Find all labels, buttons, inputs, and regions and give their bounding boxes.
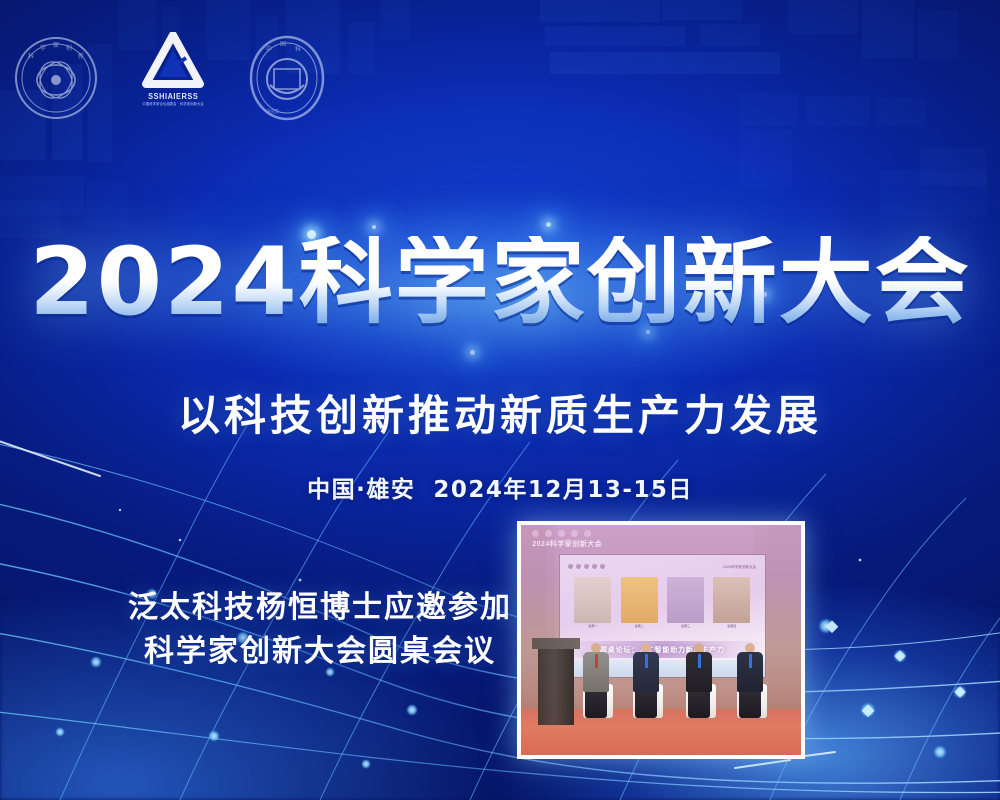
light-spark [470, 350, 475, 355]
panelist-card: 嘉宾二 [621, 577, 658, 638]
triangle-association-logo-icon: SSHIAIERSS 中国科学家论坛组委会 · 科学家创新大会 [126, 32, 220, 124]
event-location: 中国·雄安 [307, 477, 415, 503]
svg-text:新: 新 [78, 52, 84, 60]
panelist-card-row: 嘉宾一 嘉宾二 嘉宾三 嘉宾四 [574, 577, 750, 638]
poster-subtitle: 以科技创新推动新质生产力发展 [0, 382, 1000, 443]
panelist-card: 嘉宾四 [713, 577, 750, 638]
svg-text:国: 国 [280, 41, 286, 48]
svg-text:研究院: 研究院 [266, 108, 280, 115]
panelist-name: 嘉宾四 [727, 625, 736, 629]
caption-line-1: 泛太科技杨恒博士应邀参加 [120, 586, 520, 630]
screen-title: 2024科学家创新大会 [723, 564, 756, 569]
main-title-container: 2024科学家创新大会 [0, 236, 1000, 330]
svg-text:家: 家 [53, 41, 59, 49]
svg-text:创: 创 [66, 44, 72, 52]
panelist-name: 嘉宾三 [681, 625, 690, 629]
podium-top [532, 638, 580, 650]
panelist-name: 嘉宾一 [588, 625, 597, 629]
svg-text:科: 科 [28, 52, 34, 60]
circular-academy-seal-icon: 科学家 创新 [14, 36, 98, 120]
panelist-figure [633, 643, 659, 718]
caption-line-2: 科学家创新大会圆桌会议 [120, 630, 520, 674]
light-spark [546, 222, 551, 227]
conference-poster: 科学家 创新 SSHIAIERSS 中国科学家论坛组委会 · 科学家创新大会 [0, 0, 1000, 800]
event-caption: 泛太科技杨恒博士应邀参加 科学家创新大会圆桌会议 [120, 586, 520, 673]
venue-banner-text: 2024科学家创新大会 [532, 539, 661, 549]
svg-text:科: 科 [295, 45, 301, 53]
svg-text:中: 中 [266, 45, 272, 53]
panel-roundtable-photo: 2024科学家创新大会 2024科学家创新大会 嘉宾一 [517, 521, 805, 759]
panelist-card: 嘉宾一 [574, 577, 611, 638]
date-location-line: 中国·雄安2024年12月13-15日 [0, 470, 1000, 504]
photo-content: 2024科学家创新大会 2024科学家创新大会 嘉宾一 [521, 525, 801, 755]
triangle-logo-acronym: SSHIAIERSS [148, 93, 198, 101]
panelist-name: 嘉宾二 [635, 625, 644, 629]
screen-icon-row [568, 564, 605, 569]
triangle-logo-subtext: 中国科学家论坛组委会 · 科学家创新大会 [142, 103, 203, 108]
panelist-figure [737, 643, 763, 718]
logo-row: 科学家 创新 SSHIAIERSS 中国科学家论坛组委会 · 科学家创新大会 [14, 30, 326, 126]
event-date: 2024年12月13-15日 [433, 477, 693, 503]
podium [538, 645, 574, 726]
screen-header: 2024科学家创新大会 [568, 561, 756, 572]
svg-text:学: 学 [40, 44, 46, 52]
panelist-figure [686, 643, 712, 718]
oval-institute-seal-icon: 中国科 研究院 [248, 35, 326, 121]
page-title: 2024科学家创新大会 [29, 236, 971, 330]
panelist-figure [583, 643, 609, 718]
panelist-card: 嘉宾三 [667, 577, 704, 638]
